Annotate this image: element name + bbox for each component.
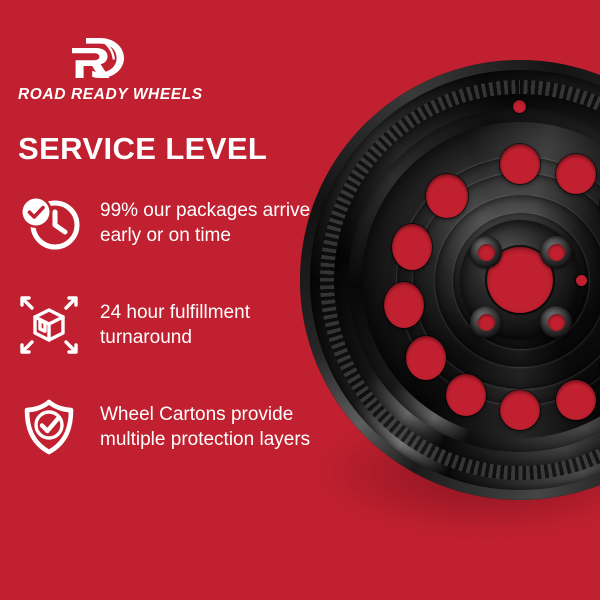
wheel-knurled-band [320,80,600,480]
promo-graphic: ROAD READY WHEELS SERVICE LEVEL 99% our … [0,0,600,600]
feature-text-protection: Wheel Cartons provide multiple protectio… [100,396,310,452]
feature-item-fulfillment: 24 hour fulfillment turnaround [18,294,318,356]
wheel-lug-hole [470,306,502,338]
shield-check-icon [18,396,80,458]
feature-text-fulfillment: 24 hour fulfillment turnaround [100,294,250,350]
wheel-vent-hole [446,374,486,416]
wheel-outer-rim [300,60,600,500]
wheel-valve-stem-hole [513,100,526,113]
wheel-inner-barrel [334,94,600,466]
wheel-center-bore [487,247,553,313]
wheel-lug-hole [540,236,572,268]
brand-wordmark: ROAD READY WHEELS [18,87,278,103]
wheel-vent-hole [556,154,596,194]
wheel-vent-hole [426,174,468,218]
wheel-flange [348,108,600,452]
page-title: SERVICE LEVEL [18,133,267,164]
wheel-hub-plate [460,220,580,340]
wheel-pilot-hole [576,275,587,286]
wheel-bead-seat [310,70,600,490]
wheel-stamp-ring-4 [452,212,590,350]
steel-wheel [300,60,600,500]
wheel-lug-hole [540,306,572,338]
box-expand-arrows-icon [18,294,80,356]
wheel-vent-hole [556,380,596,420]
wheel-stamp-ring-1 [396,156,600,406]
wheel-face-disc [362,122,600,438]
brand-logo[interactable]: ROAD READY WHEELS [18,36,278,103]
wheel-vent-hole [406,336,446,380]
wheel-lug-hole [470,236,502,268]
wheel-product-image [300,60,600,520]
wheel-stamp-ring-2 [412,172,600,390]
wheel-stamp-ring-3 [434,194,600,368]
feature-list: 99% our packages arrive early or on time [18,192,318,458]
wheel-specular-sheen [362,122,600,438]
clock-check-icon [18,192,80,254]
wheel-drop-shadow [322,412,600,532]
wheel-vent-hole [500,144,540,184]
wheel-vent-hole [392,224,432,270]
wheel-vent-hole [384,282,424,328]
feature-item-protection: Wheel Cartons provide multiple protectio… [18,396,318,458]
wheel-vent-hole [500,390,540,430]
feature-text-delivery: 99% our packages arrive early or on time [100,192,310,248]
road-ready-wheels-r-monogram-icon [70,36,278,85]
feature-item-delivery: 99% our packages arrive early or on time [18,192,318,254]
